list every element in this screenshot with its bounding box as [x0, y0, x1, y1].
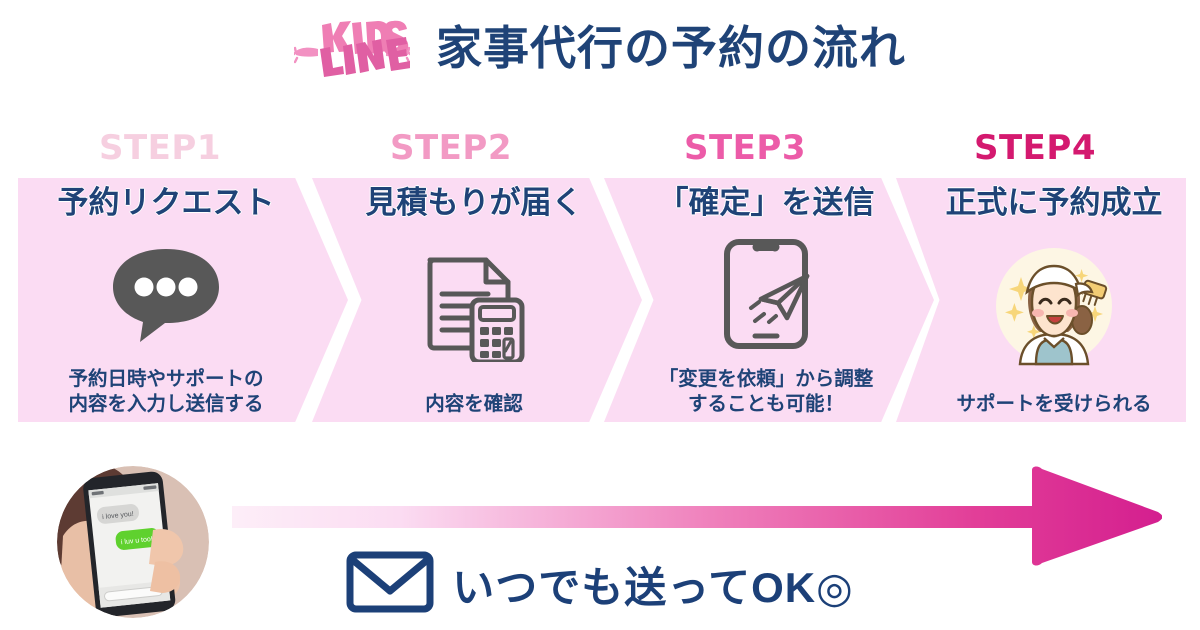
step-note-4: サポートを受けられる: [956, 392, 1151, 422]
smiling-housekeeper-icon: [922, 220, 1186, 392]
step-label-row: STEP1 STEP2 STEP3 STEP4: [0, 126, 1200, 170]
steps-row: 予約リクエスト 予約日時やサポートの 内容を入力し送信する: [0, 178, 1200, 422]
step-title-1: 予約リクエスト: [58, 186, 275, 220]
footer-text: いつでも送ってOK◎: [452, 554, 854, 615]
step-note-1: 予約日時やサポートの 内容を入力し送信する: [68, 367, 263, 422]
step-title-2: 見積もりが届く: [366, 186, 583, 220]
step-card-2[interactable]: 見積もりが届く: [312, 178, 642, 422]
infographic-canvas: 家事代行の予約の流れ STEP1 STEP2 STEP3 STEP4 予約リクエ…: [0, 0, 1200, 630]
step-label-1: STEP1: [50, 126, 270, 170]
step-label-3: STEP3: [635, 126, 855, 170]
step-card-4[interactable]: 正式に予約成立: [896, 178, 1186, 422]
footer-message: いつでも送ってOK◎: [0, 548, 1200, 620]
step-title-4: 正式に予約成立: [946, 186, 1163, 220]
step-label-4: STEP4: [925, 126, 1145, 170]
speech-bubble-icon: [18, 220, 314, 367]
kidsline-logo: [294, 17, 410, 79]
envelope-icon: [346, 551, 434, 618]
step-card-1[interactable]: 予約リクエスト 予約日時やサポートの 内容を入力し送信する: [18, 178, 348, 422]
step-card-3[interactable]: 「確定」を送信: [604, 178, 934, 422]
phone-paperplane-icon: [620, 220, 912, 367]
header: 家事代行の予約の流れ: [0, 8, 1200, 88]
step-note-3: 「変更を依頼」から調整 することも可能！: [659, 367, 874, 422]
document-calculator-icon: [328, 220, 620, 392]
step-note-2: 内容を確認: [425, 392, 523, 422]
step-label-2: STEP2: [341, 126, 561, 170]
page-title: 家事代行の予約の流れ: [436, 25, 906, 71]
step-title-3: 「確定」を送信: [658, 186, 875, 220]
